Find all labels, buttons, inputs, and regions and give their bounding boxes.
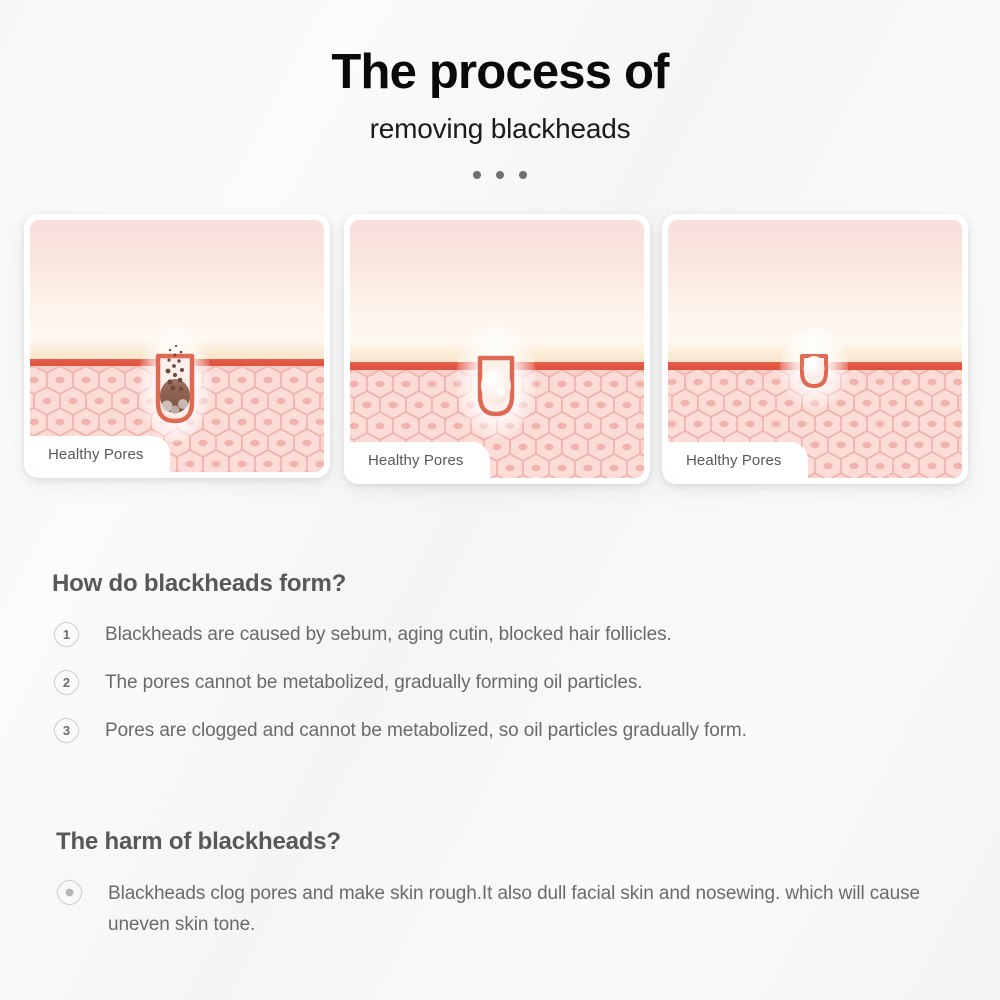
panel-label-text: Healthy Pores bbox=[368, 452, 464, 469]
epidermis-layer bbox=[30, 341, 324, 359]
list-item: 2 The pores cannot be metabolized, gradu… bbox=[0, 668, 1000, 704]
skin-surface-layer bbox=[30, 220, 324, 341]
panel-label-text: Healthy Pores bbox=[48, 446, 144, 463]
skin-diagram-panels: Healthy Pores bbox=[0, 214, 1000, 489]
list-item-text: Pores are clogged and cannot be metaboli… bbox=[105, 716, 747, 746]
epidermis-layer bbox=[668, 344, 962, 362]
page-subtitle: removing blackheads bbox=[0, 113, 1000, 145]
section-heading: How do blackheads form? bbox=[0, 570, 1000, 598]
number-badge-icon: 3 bbox=[53, 717, 80, 744]
skin-surface-layer bbox=[668, 220, 962, 344]
skin-panel-3[interactable]: Healthy Pores bbox=[662, 214, 968, 484]
dermis-boundary-line bbox=[668, 362, 962, 370]
badge-number: 1 bbox=[53, 621, 80, 648]
panel-label-tab: Healthy Pores bbox=[668, 442, 808, 478]
number-badge-icon: 1 bbox=[53, 621, 80, 648]
badge-number: 3 bbox=[53, 717, 80, 744]
number-badge-icon: 2 bbox=[53, 669, 80, 696]
numbered-list: 1 Blackheads are caused by sebum, aging … bbox=[0, 620, 1000, 752]
list-item-text: The pores cannot be metabolized, gradual… bbox=[105, 668, 642, 698]
three-dots-separator bbox=[0, 171, 1000, 179]
panel-label-tab: Healthy Pores bbox=[30, 436, 170, 472]
skin-panel-2[interactable]: Healthy Pores bbox=[344, 214, 650, 484]
skin-panel-1[interactable]: Healthy Pores bbox=[24, 214, 330, 478]
panel-label-tab: Healthy Pores bbox=[350, 442, 490, 478]
dermis-boundary-line bbox=[350, 362, 644, 370]
list-item-text: Blackheads clog pores and make skin roug… bbox=[108, 878, 943, 941]
dot-icon bbox=[473, 171, 481, 179]
list-item-text: Blackheads are caused by sebum, aging cu… bbox=[105, 620, 672, 650]
bullet-badge-icon bbox=[56, 879, 83, 906]
dot-icon bbox=[496, 171, 504, 179]
bullet-list: Blackheads clog pores and make skin roug… bbox=[0, 878, 1000, 941]
list-item: 3 Pores are clogged and cannot be metabo… bbox=[0, 716, 1000, 752]
panel-label-text: Healthy Pores bbox=[686, 452, 782, 469]
dot-icon bbox=[519, 171, 527, 179]
page-header: The process of removing blackheads bbox=[0, 0, 1000, 179]
page-title: The process of bbox=[0, 46, 1000, 99]
badge-number: 2 bbox=[53, 669, 80, 696]
skin-surface-layer bbox=[350, 220, 644, 344]
section-harm-of-blackheads: The harm of blackheads? Blackheads clog … bbox=[0, 828, 1000, 953]
epidermis-layer bbox=[350, 344, 644, 362]
dermis-boundary-line bbox=[30, 359, 324, 367]
section-how-blackheads-form: How do blackheads form? 1 Blackheads are… bbox=[0, 570, 1000, 764]
list-item: 1 Blackheads are caused by sebum, aging … bbox=[0, 620, 1000, 656]
list-item: Blackheads clog pores and make skin roug… bbox=[0, 878, 1000, 941]
section-heading: The harm of blackheads? bbox=[0, 828, 1000, 856]
